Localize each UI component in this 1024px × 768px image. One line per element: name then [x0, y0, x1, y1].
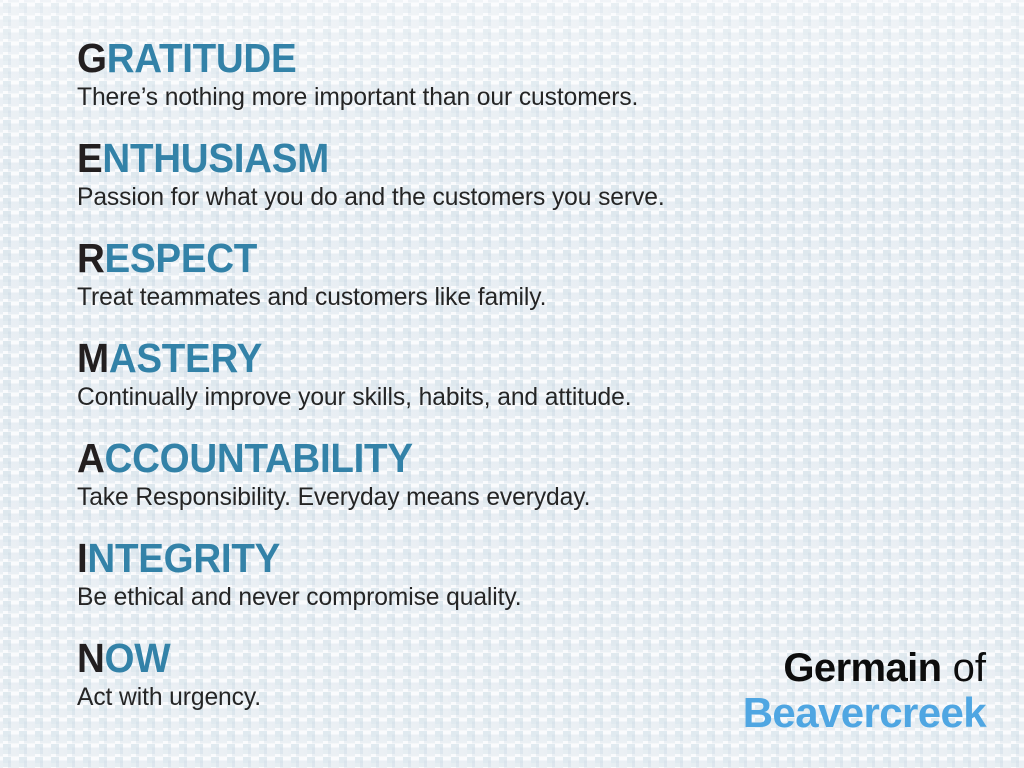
value-heading-mastery: MASTERY [77, 336, 923, 380]
value-heading-rest: OW [105, 635, 171, 681]
value-block-respect: RESPECT Treat teammates and customers li… [77, 236, 977, 336]
value-heading-rest: NTEGRITY [87, 535, 280, 581]
value-heading-rest: ESPECT [105, 235, 258, 281]
value-description-enthusiasm: Passion for what you do and the customer… [77, 182, 964, 212]
value-description-mastery: Continually improve your skills, habits,… [77, 382, 964, 412]
value-initial: R [77, 235, 105, 281]
value-heading-rest: RATITUDE [107, 35, 297, 81]
value-heading-accountability: ACCOUNTABILITY [77, 436, 923, 480]
value-block-integrity: INTEGRITY Be ethical and never compromis… [77, 536, 977, 636]
value-block-accountability: ACCOUNTABILITY Take Responsibility. Ever… [77, 436, 977, 536]
brand-connector: of [942, 646, 986, 690]
value-description-gratitude: There’s nothing more important than our … [77, 82, 964, 112]
value-block-gratitude: GRATITUDE There’s nothing more important… [77, 36, 977, 136]
value-heading-integrity: INTEGRITY [77, 536, 923, 580]
value-heading-respect: RESPECT [77, 236, 923, 280]
brand-name: Germain [783, 646, 941, 690]
value-initial: G [77, 35, 107, 81]
value-heading-rest: NTHUSIASM [102, 135, 329, 181]
value-initial: A [77, 435, 105, 481]
values-poster: GRATITUDE There’s nothing more important… [0, 0, 1024, 768]
core-values-list: GRATITUDE There’s nothing more important… [77, 36, 977, 736]
value-description-respect: Treat teammates and customers like famil… [77, 282, 964, 312]
brand-logo: Germain of Beavercreek [743, 647, 986, 736]
value-description-accountability: Take Responsibility. Everyday means ever… [77, 482, 964, 512]
value-heading-rest: CCOUNTABILITY [105, 435, 413, 481]
value-initial: M [77, 335, 109, 381]
value-block-mastery: MASTERY Continually improve your skills,… [77, 336, 977, 436]
value-heading-gratitude: GRATITUDE [77, 36, 923, 80]
brand-location: Beavercreek [743, 690, 986, 736]
value-description-integrity: Be ethical and never compromise quality. [77, 582, 964, 612]
value-initial: E [77, 135, 102, 181]
value-initial: N [77, 635, 105, 681]
brand-logo-line-one: Germain of [743, 647, 986, 689]
value-block-enthusiasm: ENTHUSIASM Passion for what you do and t… [77, 136, 977, 236]
value-initial: I [77, 535, 87, 581]
value-heading-enthusiasm: ENTHUSIASM [77, 136, 923, 180]
value-heading-rest: ASTERY [109, 335, 262, 381]
